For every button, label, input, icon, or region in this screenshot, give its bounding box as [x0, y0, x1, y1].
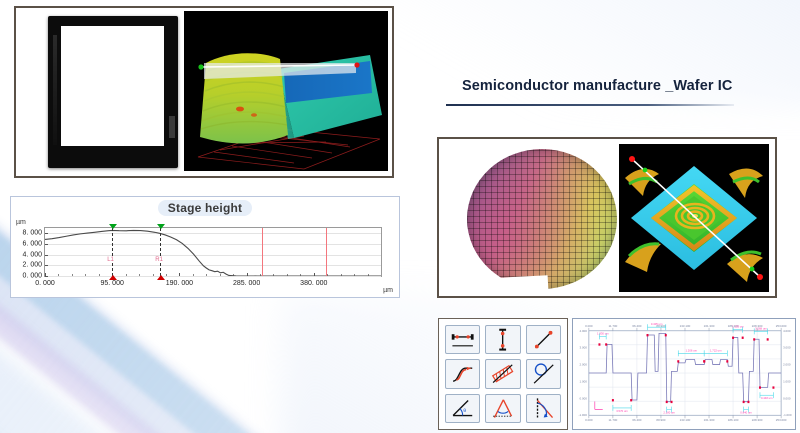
tool-grid: θ	[445, 325, 561, 423]
die-3d-render	[619, 144, 769, 292]
y-tick-label: 4. 000	[23, 251, 42, 258]
x-tick-label: 285. 000	[233, 280, 260, 287]
circle-to-line-icon	[527, 360, 560, 387]
step-profile-waveform-panel: 0.0000.00011.70011.70066.40066.40088.900…	[572, 318, 796, 430]
glass-connector-tab	[169, 116, 175, 138]
measurement-marker	[732, 337, 734, 339]
measurement-annotation: 3.570 um	[616, 409, 628, 413]
measurement-marker	[612, 399, 614, 401]
measurement-marker	[759, 386, 761, 388]
tool-point-to-point-distance-icon[interactable]	[526, 325, 561, 354]
display-glass-panel	[14, 6, 394, 178]
measurement-marker	[647, 334, 649, 336]
cursor-bottom-marker	[157, 275, 165, 280]
waveform-y-tick-label: 4.000	[783, 329, 791, 333]
waveform-y-tick-label: 3.000	[579, 346, 587, 350]
tool-pitch-multi-line-icon[interactable]	[485, 359, 520, 388]
die-section-start-marker	[629, 156, 635, 162]
measurement-marker	[772, 386, 774, 388]
glass-bezel	[48, 16, 178, 168]
waveform-y-tick-label: 0.000	[783, 396, 791, 400]
waveform-x-tick-label: 133.100	[680, 324, 691, 328]
waveform-x-tick-label: 186.100	[728, 418, 739, 422]
measurement-annotation: 0.840 um	[740, 411, 752, 415]
y-tick-label: 6. 000	[23, 241, 42, 248]
defect-marker	[251, 113, 257, 117]
cursor-top-marker	[109, 224, 117, 229]
y-tick-label: 8. 000	[23, 230, 42, 237]
tool-horizontal-distance-icon[interactable]	[445, 325, 480, 354]
tool-circle-to-line-icon[interactable]	[526, 359, 561, 388]
waveform-x-tick-label: 0.000	[585, 324, 593, 328]
measurement-annotation: 1.102 um	[732, 325, 744, 329]
waveform-x-tick-label: 253.000	[776, 418, 787, 422]
chart-cursor[interactable]: L1	[112, 228, 113, 276]
y-tick-label: 0. 000	[23, 273, 42, 280]
waveform-y-tick-label: 2.000	[579, 363, 587, 367]
measurement-annotation: 1.930 um	[597, 331, 609, 335]
waveform-x-tick-label: 161.300	[704, 324, 715, 328]
measurement-marker	[747, 401, 749, 403]
cursor-label: R1	[154, 257, 164, 263]
measurement-marker	[726, 360, 728, 362]
glass-active-area	[61, 26, 164, 146]
measurement-marker	[742, 337, 744, 339]
angle-from-baseline-icon: θ	[446, 395, 479, 422]
section-start-marker	[198, 64, 203, 69]
chart-plot-area: 0. 0002. 0004. 0006. 0008. 000 0. 00095.…	[44, 227, 382, 277]
waveform-x-tick-label: 133.100	[680, 418, 691, 422]
wafer-die-array	[467, 149, 617, 289]
measurement-marker	[605, 343, 607, 345]
measurement-marker	[630, 399, 632, 401]
tool-step-height-icon[interactable]	[445, 359, 480, 388]
waveform-x-tick-label: 161.300	[704, 418, 715, 422]
y-tick-label: 2. 000	[23, 262, 42, 269]
waveform-x-tick-label: 253.000	[776, 324, 787, 328]
y-tick-mark	[45, 276, 48, 277]
section-end-marker	[354, 62, 359, 67]
waveform-y-tick-label: 1.000	[579, 379, 587, 383]
waveform-x-tick-label: 11.700	[608, 418, 617, 422]
x-axis-unit-label: µm	[383, 287, 393, 294]
tool-angle-from-baseline-icon[interactable]: θ	[445, 394, 480, 423]
measurement-marker	[671, 401, 673, 403]
chart-cursor[interactable]: R1	[160, 228, 161, 276]
waveform-svg: 0.0000.00011.70011.70066.40066.40088.900…	[573, 319, 795, 429]
x-tick-label: 380. 000	[300, 280, 327, 287]
slide-heading-underline	[446, 104, 734, 106]
waveform-y-tick-label: 1.000	[783, 379, 791, 383]
tool-included-angle-icon[interactable]	[485, 394, 520, 423]
surface-3d-svg	[184, 11, 388, 171]
waveform-x-tick-label: 66.400	[632, 324, 641, 328]
die-section-end-marker	[757, 274, 763, 280]
measurement-tool-palette[interactable]: θ	[438, 318, 568, 430]
tool-vertical-distance-icon[interactable]	[485, 325, 520, 354]
waveform-y-tick-label: 4.000	[579, 329, 587, 333]
measurement-marker	[598, 343, 600, 345]
measurement-annotation: 1.206 um	[685, 348, 697, 352]
waveform-y-tick-label: 3.000	[783, 346, 791, 350]
x-tick-label: 0. 000	[35, 280, 54, 287]
vertical-distance-icon	[486, 326, 519, 353]
cursor-label: L1	[106, 257, 115, 263]
stage-height-chart-panel: Stage height µm µm 0. 0002. 0004. 0006. …	[10, 196, 400, 298]
measurement-annotation: 1.722 um	[710, 348, 722, 352]
waveform-x-tick-label: 0.000	[585, 418, 593, 422]
measurement-annotation: 2.180 um	[663, 411, 675, 415]
measurement-annotation: 0.405 um	[651, 322, 663, 326]
wafer-notch-flat	[479, 275, 549, 293]
measurement-marker	[703, 360, 705, 362]
slide-heading-text: Semiconductor manufacture _Wafer IC	[462, 78, 762, 94]
included-angle-icon	[486, 395, 519, 422]
point-to-point-distance-icon	[527, 326, 560, 353]
tool-angle-from-vertical-icon[interactable]	[526, 394, 561, 423]
region-boundary-line[interactable]	[326, 228, 327, 276]
waveform-x-tick-label: 88.900	[656, 418, 665, 422]
cursor-bottom-marker	[109, 275, 117, 280]
waveform-x-tick-label: 11.700	[608, 324, 617, 328]
measurement-marker	[767, 338, 769, 340]
display-glass-photo	[48, 16, 178, 168]
measurement-marker	[665, 334, 667, 336]
cursor-top-marker	[157, 224, 165, 229]
chart-title-text: Stage height	[158, 200, 252, 216]
defect-marker	[236, 107, 244, 112]
waveform-y-tick-label: 0.000	[579, 396, 587, 400]
wafer-photo	[467, 149, 617, 289]
waveform-y-tick-label: 2.000	[783, 363, 791, 367]
svg-text:θ: θ	[463, 408, 466, 414]
waveform-x-tick-label: 66.400	[632, 418, 641, 422]
measurement-marker	[677, 360, 679, 362]
step-height-icon	[446, 360, 479, 387]
measurement-marker	[753, 338, 755, 340]
x-tick-label: 95. 000	[101, 280, 124, 287]
y-axis-unit-label: µm	[16, 219, 26, 226]
profile-polyline	[45, 230, 381, 276]
pitch-multi-line-icon	[486, 360, 519, 387]
measurement-annotation: 3.268 um	[755, 326, 767, 330]
waveform-y-tick-label: -1.000	[578, 413, 587, 417]
wafer-panel	[437, 137, 777, 298]
die-3d-svg	[619, 144, 769, 292]
measurement-marker	[743, 401, 745, 403]
surface-3d-render	[184, 11, 388, 171]
horizontal-distance-icon	[446, 326, 479, 353]
stage-height-profile-line	[45, 228, 381, 276]
chart-title: Stage height	[11, 201, 399, 215]
measurement-annotation: 0.448 um	[761, 396, 773, 400]
slide-heading: Semiconductor manufacture _Wafer IC	[462, 78, 762, 94]
measurement-marker	[666, 401, 668, 403]
chart-gridline	[45, 276, 381, 277]
angle-from-vertical-icon	[527, 395, 560, 422]
die-section-mid-marker	[643, 168, 648, 173]
x-tick-label: 190. 000	[166, 280, 193, 287]
region-boundary-line[interactable]	[262, 228, 263, 276]
waveform-y-tick-label: -1.000	[783, 413, 792, 417]
waveform-x-tick-label: 228.300	[752, 418, 763, 422]
die-section-mid-marker	[750, 267, 755, 272]
